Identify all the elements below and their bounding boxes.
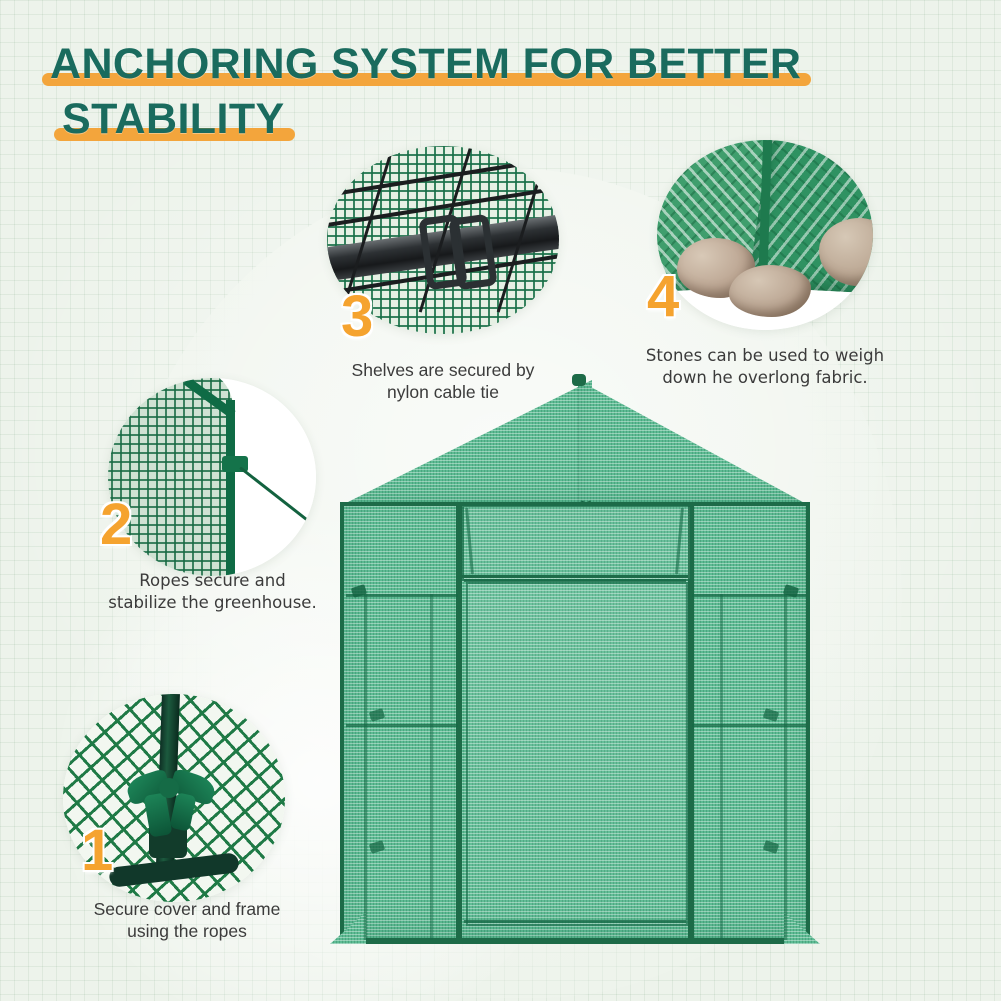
stones-on-fabric-photo	[657, 140, 873, 330]
callout-2-photo-circle	[108, 378, 316, 576]
callout-1-caption-line-2: using the ropes	[82, 920, 292, 942]
guy-rope-corner-photo	[108, 378, 316, 576]
roll-up-window-panel	[462, 505, 692, 581]
door-panel	[466, 582, 688, 926]
body-left-edge	[340, 502, 344, 944]
title-line-1: ANCHORING SYSTEM FOR BETTER	[50, 40, 801, 88]
body-right-edge	[806, 502, 810, 944]
right-panel-inner-post	[784, 594, 787, 940]
callout-1-number-badge: 1	[81, 822, 113, 880]
left-panel-outer-post	[430, 594, 433, 940]
window-bottom-rail	[462, 575, 688, 578]
callout-2-number-badge: 2	[100, 496, 132, 554]
roof-slope-left	[340, 380, 592, 506]
page-title: ANCHORING SYSTEM FOR BETTER STABILITY	[50, 40, 810, 150]
right-panel-divider-lower	[692, 724, 806, 727]
roof-apex-cap	[572, 374, 586, 386]
greenhouse-corner-edge	[226, 400, 235, 576]
callout-1-caption: Secure cover and frame using the ropes	[82, 898, 292, 942]
title-text-1: ANCHORING SYSTEM FOR BETTER	[50, 40, 801, 88]
callout-2-caption: Ropes secure and stabilize the greenhous…	[100, 570, 325, 614]
callout-4-photo-circle	[657, 140, 873, 330]
left-panel-inner-post	[364, 594, 367, 940]
infographic-canvas: ANCHORING SYSTEM FOR BETTER STABILITY	[0, 0, 1001, 1001]
right-panel-outer-post	[720, 594, 723, 940]
door-bottom-rail	[464, 920, 686, 923]
greenhouse-product-image	[340, 372, 810, 952]
ribbon-bow-knot	[159, 778, 179, 798]
body-bottom-edge	[340, 938, 810, 944]
left-panel-divider-lower	[346, 724, 458, 727]
callout-2-caption-line-1: Ropes secure and	[100, 570, 325, 592]
title-text-2: STABILITY	[62, 95, 285, 143]
callout-4-number-badge: 4	[647, 268, 679, 326]
door-top-rail	[464, 579, 686, 582]
roof-slope-right	[578, 380, 810, 506]
callout-2-caption-line-2: stabilize the greenhouse.	[100, 592, 325, 614]
callout-4-caption-line-1: Stones can be used to weigh	[630, 345, 900, 367]
callout-1-caption-line-1: Secure cover and frame	[82, 898, 292, 920]
title-line-2: STABILITY	[62, 95, 285, 143]
callout-3-number-badge: 3	[341, 288, 373, 346]
